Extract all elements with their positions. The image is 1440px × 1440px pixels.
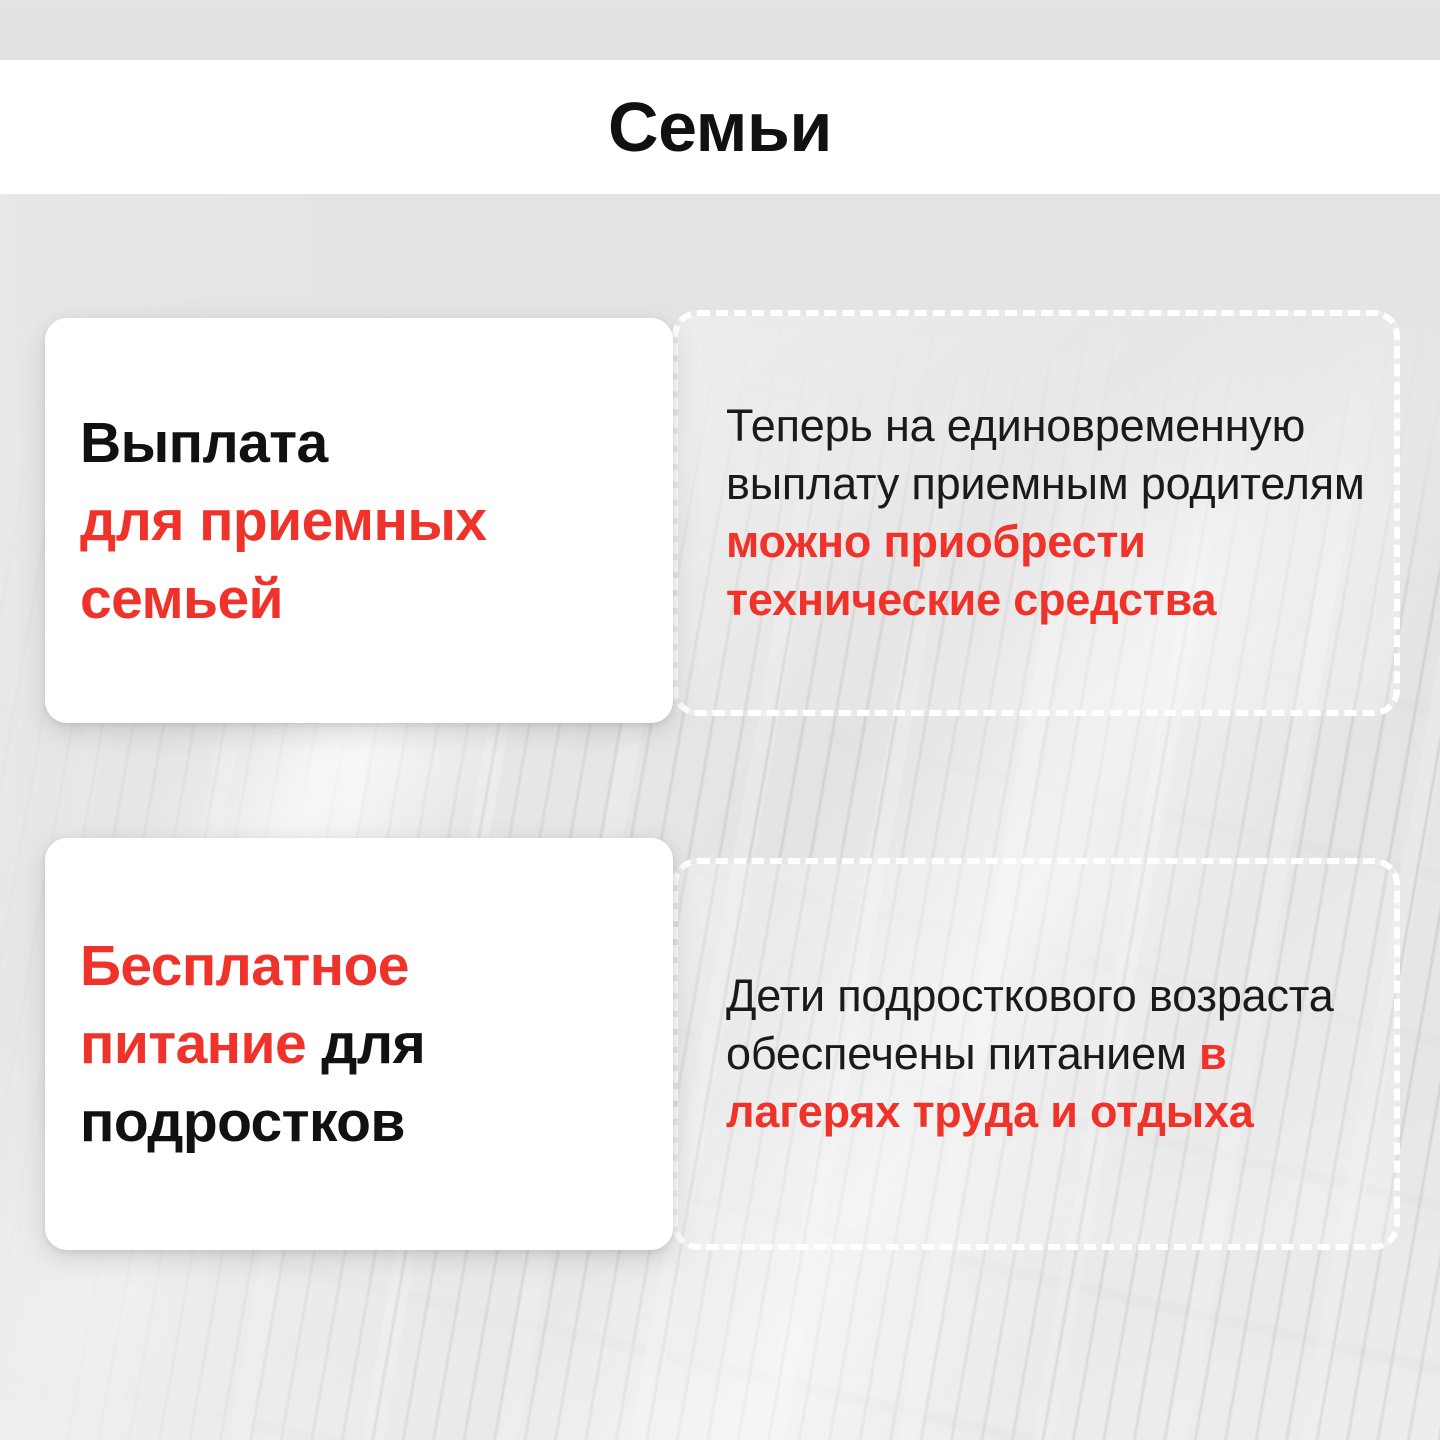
card-line-2b: для [306, 1012, 425, 1076]
benefit-card-title: Бесплатное питание для подростков [45, 927, 451, 1161]
panel-description: Теперь на единовременную выплату приемны… [678, 397, 1394, 629]
card-line-1: Выплата [80, 411, 328, 475]
benefit-card[interactable]: Выплата для приемных семьей [45, 318, 673, 723]
card-line-1: Бесплатное [80, 934, 409, 998]
benefit-card[interactable]: Бесплатное питание для подростков [45, 838, 673, 1250]
card-line-3: семьей [80, 567, 283, 631]
dashed-detail-panel: Теперь на единовременную выплату приемны… [672, 310, 1400, 716]
top-grey-strip [0, 0, 1440, 60]
card-line-2: для приемных [80, 489, 487, 553]
infographic-page: Семьи Теперь на единовременную выплату п… [0, 0, 1440, 1440]
panel-description: Дети подросткового возраста обеспечены п… [678, 967, 1394, 1141]
dashed-detail-panel: Дети подросткового возраста обеспечены п… [672, 858, 1400, 1250]
panel-text-plain: Теперь на единовременную выплату приемны… [726, 400, 1365, 509]
panel-text-plain: Дети подросткового возраста обеспечены п… [726, 970, 1334, 1079]
page-title: Семьи [608, 92, 832, 162]
header-band: Семьи [0, 60, 1440, 194]
card-line-2a: питание [80, 1012, 306, 1076]
card-line-3: подростков [80, 1090, 405, 1154]
panel-text-highlight: можно приобрести технические средства [726, 516, 1216, 625]
benefit-card-title: Выплата для приемных семьей [45, 404, 513, 638]
content-area: Теперь на единовременную выплату приемны… [0, 194, 1440, 1440]
